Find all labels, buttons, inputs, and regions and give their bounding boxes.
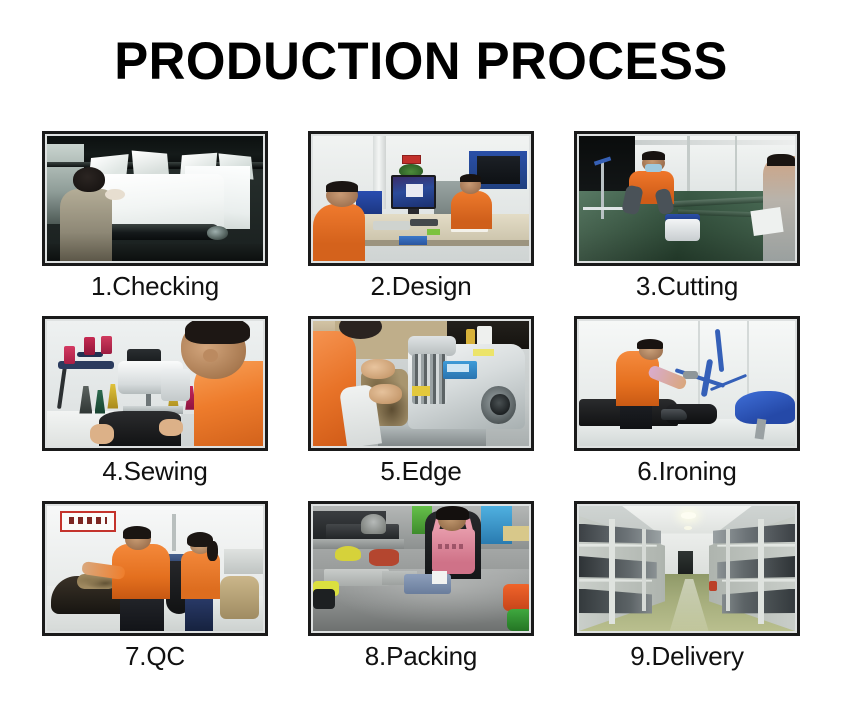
operator-ear (203, 349, 218, 363)
thread-tensioners (412, 354, 447, 404)
rack-post-right-2 (726, 529, 730, 612)
photo-frame-delivery[interactable] (574, 501, 800, 636)
process-step-8-packing[interactable]: 8.Packing (308, 501, 534, 691)
stored-goods-left-top (579, 524, 661, 544)
inspector-1-legs (120, 594, 163, 632)
photo-frame-cutting[interactable] (574, 131, 800, 266)
operator-hand-lower (369, 384, 401, 404)
wall-seam-1 (687, 136, 690, 199)
inspector-head (73, 167, 105, 192)
operator-hand-right (159, 419, 183, 437)
background-worker (361, 514, 387, 534)
page-title: PRODUCTION PROCESS (17, 34, 825, 90)
assistant-hair (767, 154, 795, 167)
sewing-machine-head (161, 369, 189, 402)
apron-logo-text (438, 544, 464, 549)
operator-hair (637, 339, 663, 349)
process-step-9-delivery[interactable]: 9.Delivery (574, 501, 800, 691)
step-caption-delivery: 9.Delivery (574, 641, 800, 672)
blue-notebook (399, 236, 427, 245)
designer-1-hair (326, 181, 358, 192)
photo-frame-edge[interactable] (308, 316, 534, 451)
keyboard-right (410, 219, 438, 227)
designer-2-body (451, 191, 492, 229)
orange-bin (503, 584, 529, 612)
step-caption-checking: 1.Checking (42, 271, 268, 302)
fabric-sheet-front (99, 174, 224, 229)
thread-spool-1 (64, 346, 75, 364)
sign-text (69, 517, 108, 523)
thread-spool-2 (84, 337, 95, 355)
ceiling-lamp-near (681, 512, 696, 518)
production-process-page: PRODUCTION PROCESS (0, 0, 842, 727)
step-caption-cutting: 3.Cutting (574, 271, 800, 302)
operator-hand-upper (361, 359, 396, 379)
handwheel-hub (490, 394, 509, 415)
step-caption-packing: 8.Packing (308, 641, 534, 672)
inspector-hand (105, 189, 124, 200)
photo-frame-packing[interactable] (308, 501, 534, 636)
right-shelf (224, 549, 263, 574)
cutter-hair (642, 151, 666, 160)
process-step-3-cutting[interactable]: 3.Cutting (574, 131, 800, 316)
steam-iron (661, 409, 687, 420)
step-caption-sewing: 4.Sewing (42, 456, 268, 487)
photo-frame-checking[interactable] (42, 131, 268, 266)
designer-1-body (313, 204, 365, 262)
cutting-machine-body (665, 219, 700, 242)
control-panel-screen (447, 364, 469, 373)
process-step-6-ironing[interactable]: 6.Ironing (574, 316, 800, 501)
process-step-grid: 1.Checking (42, 131, 800, 691)
inspector-2-legs (185, 596, 213, 631)
monitor-window (406, 184, 423, 198)
photo-design (313, 136, 529, 261)
inspector-2-ponytail (207, 541, 218, 561)
photo-frame-qc[interactable] (42, 501, 268, 636)
photo-edge (313, 321, 529, 446)
photo-frame-design[interactable] (308, 131, 534, 266)
photo-checking (47, 136, 263, 261)
fabric-roller (95, 224, 220, 240)
red-bag (369, 549, 399, 567)
wall-seam-2 (747, 321, 749, 399)
process-step-5-edge[interactable]: 5.Edge (308, 316, 534, 501)
rack-post-left-1 (609, 519, 615, 624)
ceiling-lamp-far (684, 526, 693, 530)
face-mask (645, 164, 662, 173)
keyboard-left (373, 221, 410, 230)
process-step-2-design[interactable]: 2.Design (308, 131, 534, 316)
packer-hair (436, 506, 468, 520)
rack-post-left-2 (642, 529, 646, 612)
rack-contents (477, 156, 520, 184)
green-bin (507, 609, 529, 632)
process-step-7-qc[interactable]: 7.QC (42, 501, 268, 691)
assistant-paper (750, 207, 783, 236)
step-caption-ironing: 6.Ironing (574, 456, 800, 487)
photo-sewing (47, 321, 263, 446)
thread-spool-3 (101, 336, 112, 354)
photo-packing (313, 506, 529, 631)
green-desk-item (427, 229, 440, 235)
process-step-4-sewing[interactable]: 4.Sewing (42, 316, 268, 501)
photo-qc (47, 506, 263, 631)
step-caption-design: 2.Design (308, 271, 534, 302)
photo-frame-ironing[interactable] (574, 316, 800, 451)
wall-seam-2 (735, 136, 738, 194)
red-wall-sign (402, 155, 421, 164)
right-shelf (503, 526, 529, 541)
wall-seam-1 (698, 321, 700, 409)
step-caption-edge: 5.Edge (308, 456, 534, 487)
rack-post-right-1 (758, 519, 764, 624)
yellow-bottle (466, 329, 475, 345)
photo-ironing (579, 321, 795, 446)
roller-end-cap (207, 226, 229, 240)
inspector-body (60, 189, 112, 262)
operator-hand-left (90, 424, 114, 444)
dark-item-left (313, 589, 335, 609)
wall-pipe (172, 514, 175, 552)
operator-hair (185, 321, 250, 344)
desk-edge (343, 240, 529, 246)
photo-delivery (579, 506, 795, 631)
step-caption-qc: 7.QC (42, 641, 268, 672)
photo-cutting (579, 136, 795, 261)
office-desk (343, 214, 529, 242)
ceiling-beam (635, 140, 795, 145)
pink-apron (432, 529, 475, 574)
yellow-tag (412, 386, 429, 396)
tan-bag (220, 576, 259, 619)
designer-2-hair (460, 174, 482, 183)
photo-frame-sewing[interactable] (42, 316, 268, 451)
red-item-on-floor (709, 581, 718, 591)
inspector-1-hair (123, 526, 151, 539)
yellow-label-top (473, 349, 495, 357)
process-step-1-checking[interactable]: 1.Checking (42, 131, 268, 316)
yellow-bag (335, 546, 361, 561)
packing-label (432, 571, 447, 584)
left-bench (313, 539, 404, 549)
